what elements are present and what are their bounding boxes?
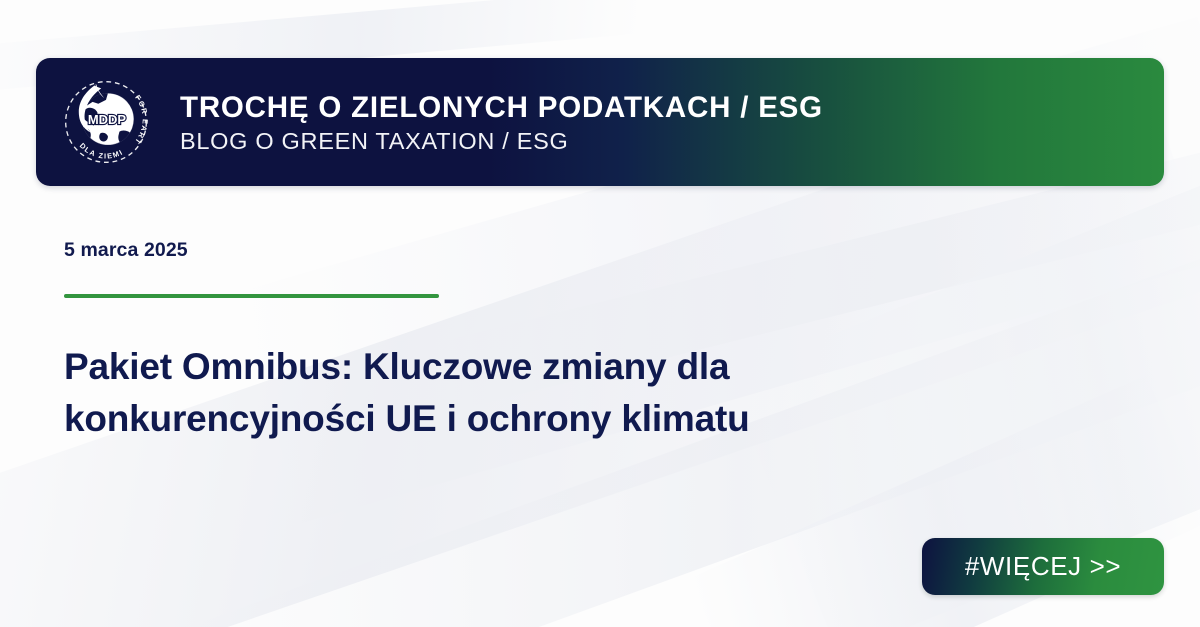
title-divider <box>64 294 439 298</box>
blog-post-card: MDDP DLA ZIEMI FOR EARTH TROCHĘ O ZIELON… <box>0 0 1200 627</box>
blog-title-main: TROCHĘ O ZIELONYCH PODATKACH / ESG <box>180 91 823 125</box>
post-date: 5 marca 2025 <box>64 239 188 262</box>
blog-header-banner: MDDP DLA ZIEMI FOR EARTH TROCHĘ O ZIELON… <box>36 58 1164 186</box>
mddp-wordmark: MDDP <box>88 112 126 127</box>
blog-title-sub: BLOG O GREEN TAXATION / ESG <box>180 128 823 155</box>
post-title: Pakiet Omnibus: Kluczowe zmiany dla konk… <box>64 341 964 446</box>
read-more-button[interactable]: #WIĘCEJ >> <box>922 538 1164 595</box>
blog-header-text: TROCHĘ O ZIELONYCH PODATKACH / ESG BLOG … <box>180 89 823 155</box>
mddp-globe-logo-icon: MDDP DLA ZIEMI FOR EARTH <box>58 74 154 170</box>
